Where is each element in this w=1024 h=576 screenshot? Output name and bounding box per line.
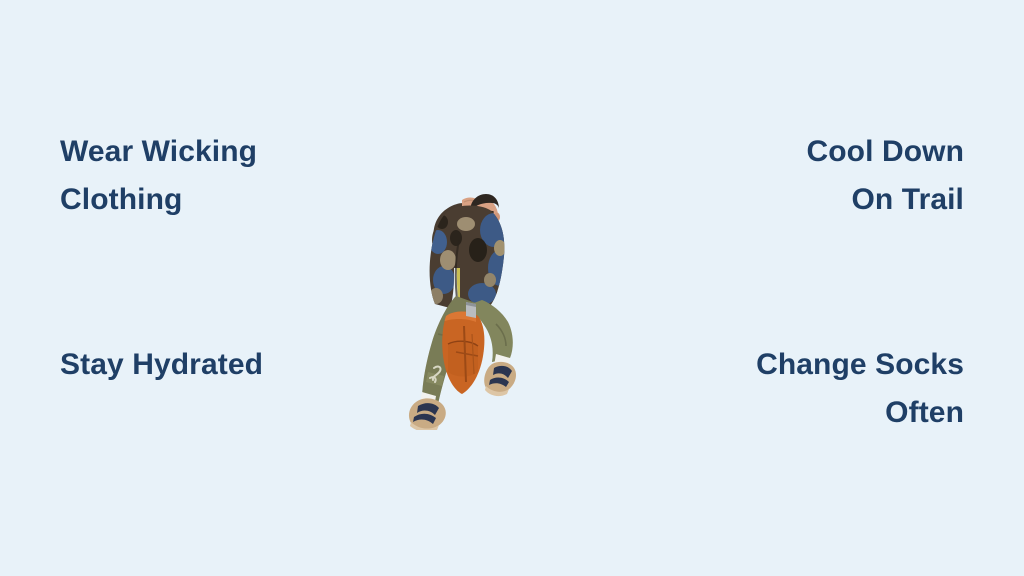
hiker-back-shoe — [484, 362, 516, 396]
tip-stay-hydrated: Stay Hydrated — [60, 341, 460, 389]
tip-wear-wicking-clothing: Wear Wicking Clothing — [60, 128, 460, 224]
hiker-front-shoe — [409, 398, 446, 430]
slide-canvas: Wear Wicking Clothing Cool Down On Trail… — [0, 0, 1024, 576]
hiker-backpack — [438, 308, 488, 398]
seated-hiker-wiping-brow-photo — [404, 176, 534, 430]
tip-cool-down-on-trail: Cool Down On Trail — [564, 128, 964, 224]
hiker-jacket — [424, 202, 514, 314]
tip-change-socks-often: Change Socks Often — [564, 341, 964, 437]
